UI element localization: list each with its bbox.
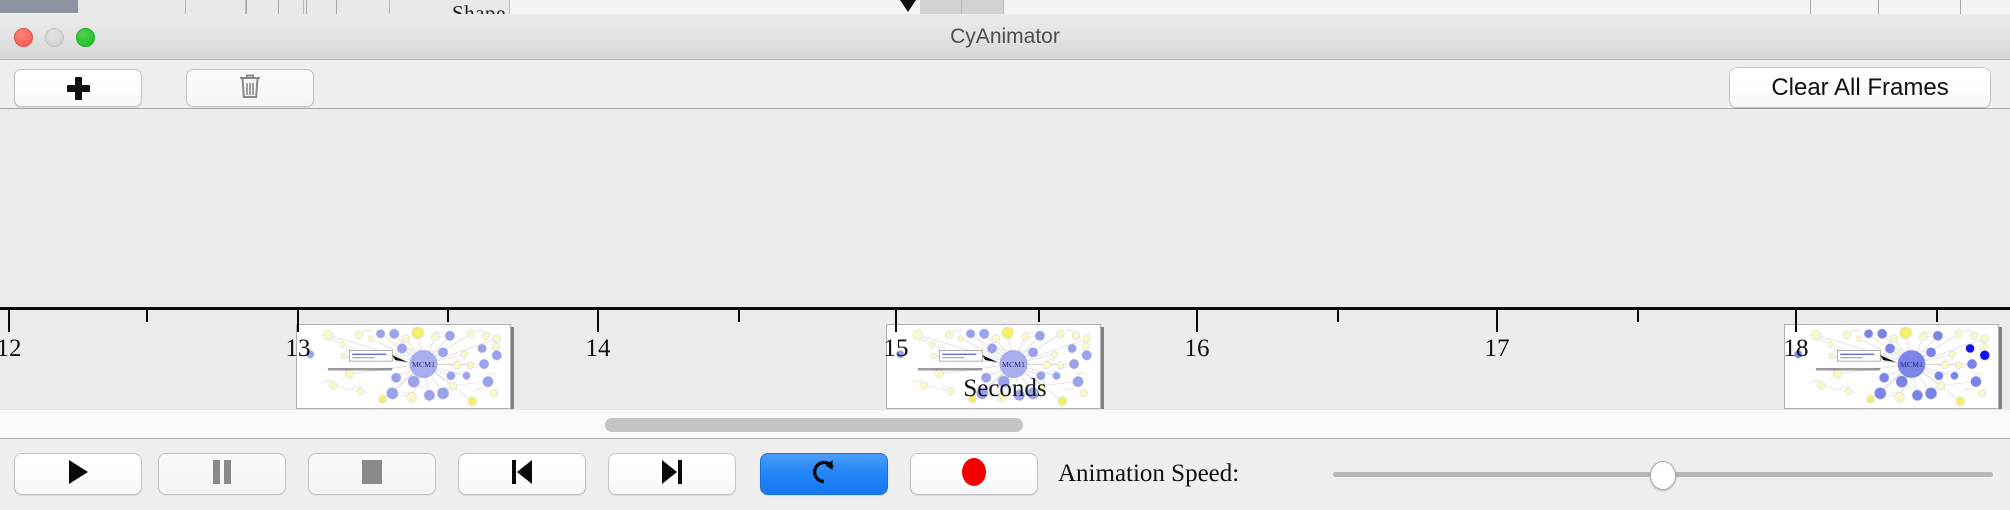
toolbar: Clear All Frames [0,60,2010,109]
ruler-tick [738,310,740,322]
animation-speed-label: Animation Speed: [1058,453,1239,495]
ruler-tick [447,310,449,322]
plus-icon [67,77,90,100]
ruler-tick-label: 14 [586,335,611,363]
ruler-baseline [0,307,2010,310]
maximize-button[interactable] [76,28,95,47]
ruler-tick-label: 17 [1485,335,1510,363]
ruler-tick [1038,310,1040,322]
ruler-tick [1337,310,1339,322]
clear-all-frames-button[interactable]: Clear All Frames [1729,67,1991,108]
timeline-scrollbar[interactable] [0,409,2010,439]
record-icon [960,457,988,492]
cyanimator-window: Shape CyAnimator [0,0,2010,510]
skip-back-icon [510,459,534,490]
window-title: CyAnimator [0,14,2010,60]
scrollbar-thumb[interactable] [605,418,1023,432]
delete-frame-button[interactable] [186,69,314,107]
player-controls: Animation Speed: [0,440,2010,510]
loop-icon [810,458,838,491]
ruler-tick-label: 18 [1784,335,1809,363]
stop-button[interactable] [308,453,436,495]
ruler-tick-label: 15 [884,335,909,363]
timeline-panel[interactable]: MCM1 MCM1 MCM1 12131415161718 Seconds [0,109,2010,409]
ruler-tick [895,310,897,332]
stop-icon [360,459,384,490]
ruler-tick [146,310,148,322]
ruler-tick [297,310,299,332]
pause-icon [211,459,233,490]
ruler-tick-label: 12 [0,335,22,363]
record-button[interactable] [910,453,1038,495]
minimize-button[interactable] [45,28,64,47]
ruler-tick-label: 13 [286,335,311,363]
clear-all-frames-label: Clear All Frames [1771,74,1948,102]
play-button[interactable] [14,453,142,495]
slider-thumb[interactable] [1650,461,1676,490]
ruler-tick [1795,310,1797,332]
ruler-tick [1196,310,1198,332]
timeline-ruler[interactable]: 12131415161718 Seconds [0,307,2010,409]
ruler-tick-label: 16 [1185,335,1210,363]
play-icon [66,459,90,490]
skip-forward-icon [660,459,684,490]
ruler-tick [8,310,10,332]
loop-button[interactable] [760,453,888,495]
add-frame-button[interactable] [14,69,142,107]
ruler-tick [597,310,599,332]
ruler-tick [1936,310,1938,322]
previous-button[interactable] [458,453,586,495]
next-button[interactable] [608,453,736,495]
axis-title: Seconds [0,375,2010,403]
animation-speed-slider[interactable] [1333,453,1993,495]
ruler-tick [1496,310,1498,332]
trash-icon [237,72,263,105]
traffic-lights [14,28,95,47]
ruler-tick [1637,310,1639,322]
title-bar: CyAnimator [0,14,2010,60]
pause-button[interactable] [158,453,286,495]
close-button[interactable] [14,28,33,47]
